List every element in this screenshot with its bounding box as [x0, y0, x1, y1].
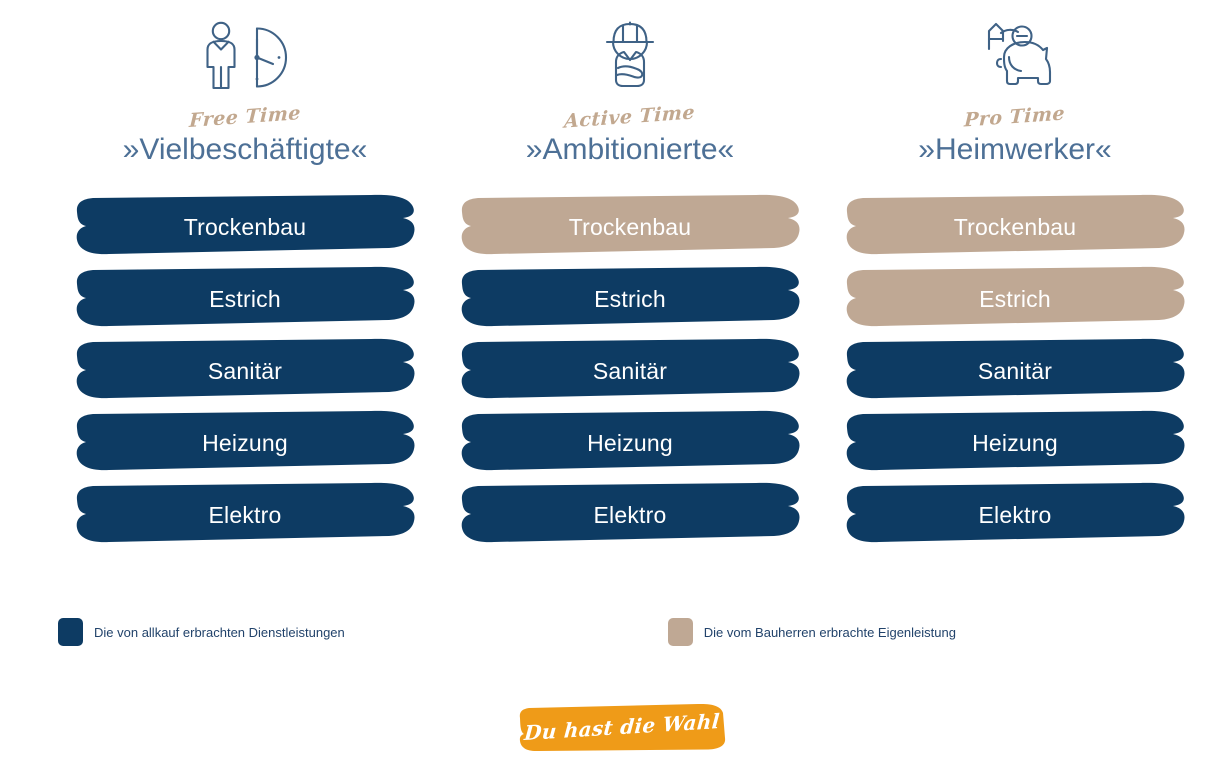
bar-heizung[interactable]: Heizung [456, 406, 804, 478]
bar-sanitaer[interactable]: Sanitär [841, 334, 1189, 406]
legend-label: Die von allkauf erbrachten Dienstleistun… [94, 625, 345, 640]
bar-list: Trockenbau Estrich Sanitär [825, 190, 1205, 550]
bar-label: Trockenbau [954, 214, 1077, 241]
bar-label: Heizung [972, 430, 1058, 457]
legend-label: Die vom Bauherren erbrachte Eigenleistun… [704, 625, 956, 640]
bar-label: Elektro [979, 502, 1052, 529]
legend-item-allkauf: Die von allkauf erbrachten Dienstleistun… [58, 618, 345, 646]
bar-elektro[interactable]: Elektro [71, 478, 419, 550]
bar-list: Trockenbau Estrich Sanitär [55, 190, 435, 550]
column-title: »Ambitionierte« [526, 133, 734, 166]
package-columns: Free Time »Vielbeschäftigte« Trockenbau … [0, 0, 1228, 550]
bar-trockenbau[interactable]: Trockenbau [841, 190, 1189, 262]
bar-heizung[interactable]: Heizung [71, 406, 419, 478]
bar-label: Heizung [587, 430, 673, 457]
bar-sanitaer[interactable]: Sanitär [456, 334, 804, 406]
bar-elektro[interactable]: Elektro [841, 478, 1189, 550]
bar-estrich[interactable]: Estrich [456, 262, 804, 334]
bar-estrich[interactable]: Estrich [71, 262, 419, 334]
bar-sanitaer[interactable]: Sanitär [71, 334, 419, 406]
bar-label: Estrich [979, 286, 1051, 313]
bar-heizung[interactable]: Heizung [841, 406, 1189, 478]
column-title: »Heimwerker« [918, 133, 1111, 166]
bar-label: Estrich [209, 286, 281, 313]
bar-label: Sanitär [593, 358, 667, 385]
bar-trockenbau[interactable]: Trockenbau [71, 190, 419, 262]
legend-item-bauherr: Die vom Bauherren erbrachte Eigenleistun… [668, 618, 956, 646]
legend-swatch-tan [668, 618, 693, 646]
bar-label: Trockenbau [569, 214, 692, 241]
package-column-heimwerker: Pro Time »Heimwerker« Trockenbau Estrich [825, 0, 1205, 550]
bar-label: Trockenbau [184, 214, 307, 241]
person-with-clock-icon [199, 14, 291, 98]
bar-label: Elektro [209, 502, 282, 529]
column-header: Active Time »Ambitionierte« [440, 0, 820, 190]
leistungspakete-page: Free Time »Vielbeschäftigte« Trockenbau … [0, 0, 1228, 783]
column-header: Pro Time »Heimwerker« [825, 0, 1205, 190]
legend-swatch-navy [58, 618, 83, 646]
column-title: »Vielbeschäftigte« [123, 133, 368, 166]
bar-trockenbau[interactable]: Trockenbau [456, 190, 804, 262]
package-column-ambitionierte: Active Time »Ambitionierte« Trockenbau E… [440, 0, 820, 550]
bar-estrich[interactable]: Estrich [841, 262, 1189, 334]
bar-label: Sanitär [208, 358, 282, 385]
cta-du-hast-die-wahl-button[interactable]: Du hast die Wahl [516, 702, 728, 752]
column-header: Free Time »Vielbeschäftigte« [55, 0, 435, 190]
package-column-vielbeschaeftigte: Free Time »Vielbeschäftigte« Trockenbau … [55, 0, 435, 550]
column-script-title: Active Time [564, 103, 696, 131]
piggy-bank-icon [973, 14, 1057, 98]
bar-list: Trockenbau Estrich Sanitär [440, 190, 820, 550]
worker-with-helmet-icon [593, 14, 667, 98]
bar-label: Heizung [202, 430, 288, 457]
column-script-title: Pro Time [964, 104, 1066, 130]
legend: Die von allkauf erbrachten Dienstleistun… [58, 618, 956, 646]
bar-label: Elektro [594, 502, 667, 529]
bar-label: Estrich [594, 286, 666, 313]
column-script-title: Free Time [189, 104, 302, 131]
bar-label: Sanitär [978, 358, 1052, 385]
bar-elektro[interactable]: Elektro [456, 478, 804, 550]
